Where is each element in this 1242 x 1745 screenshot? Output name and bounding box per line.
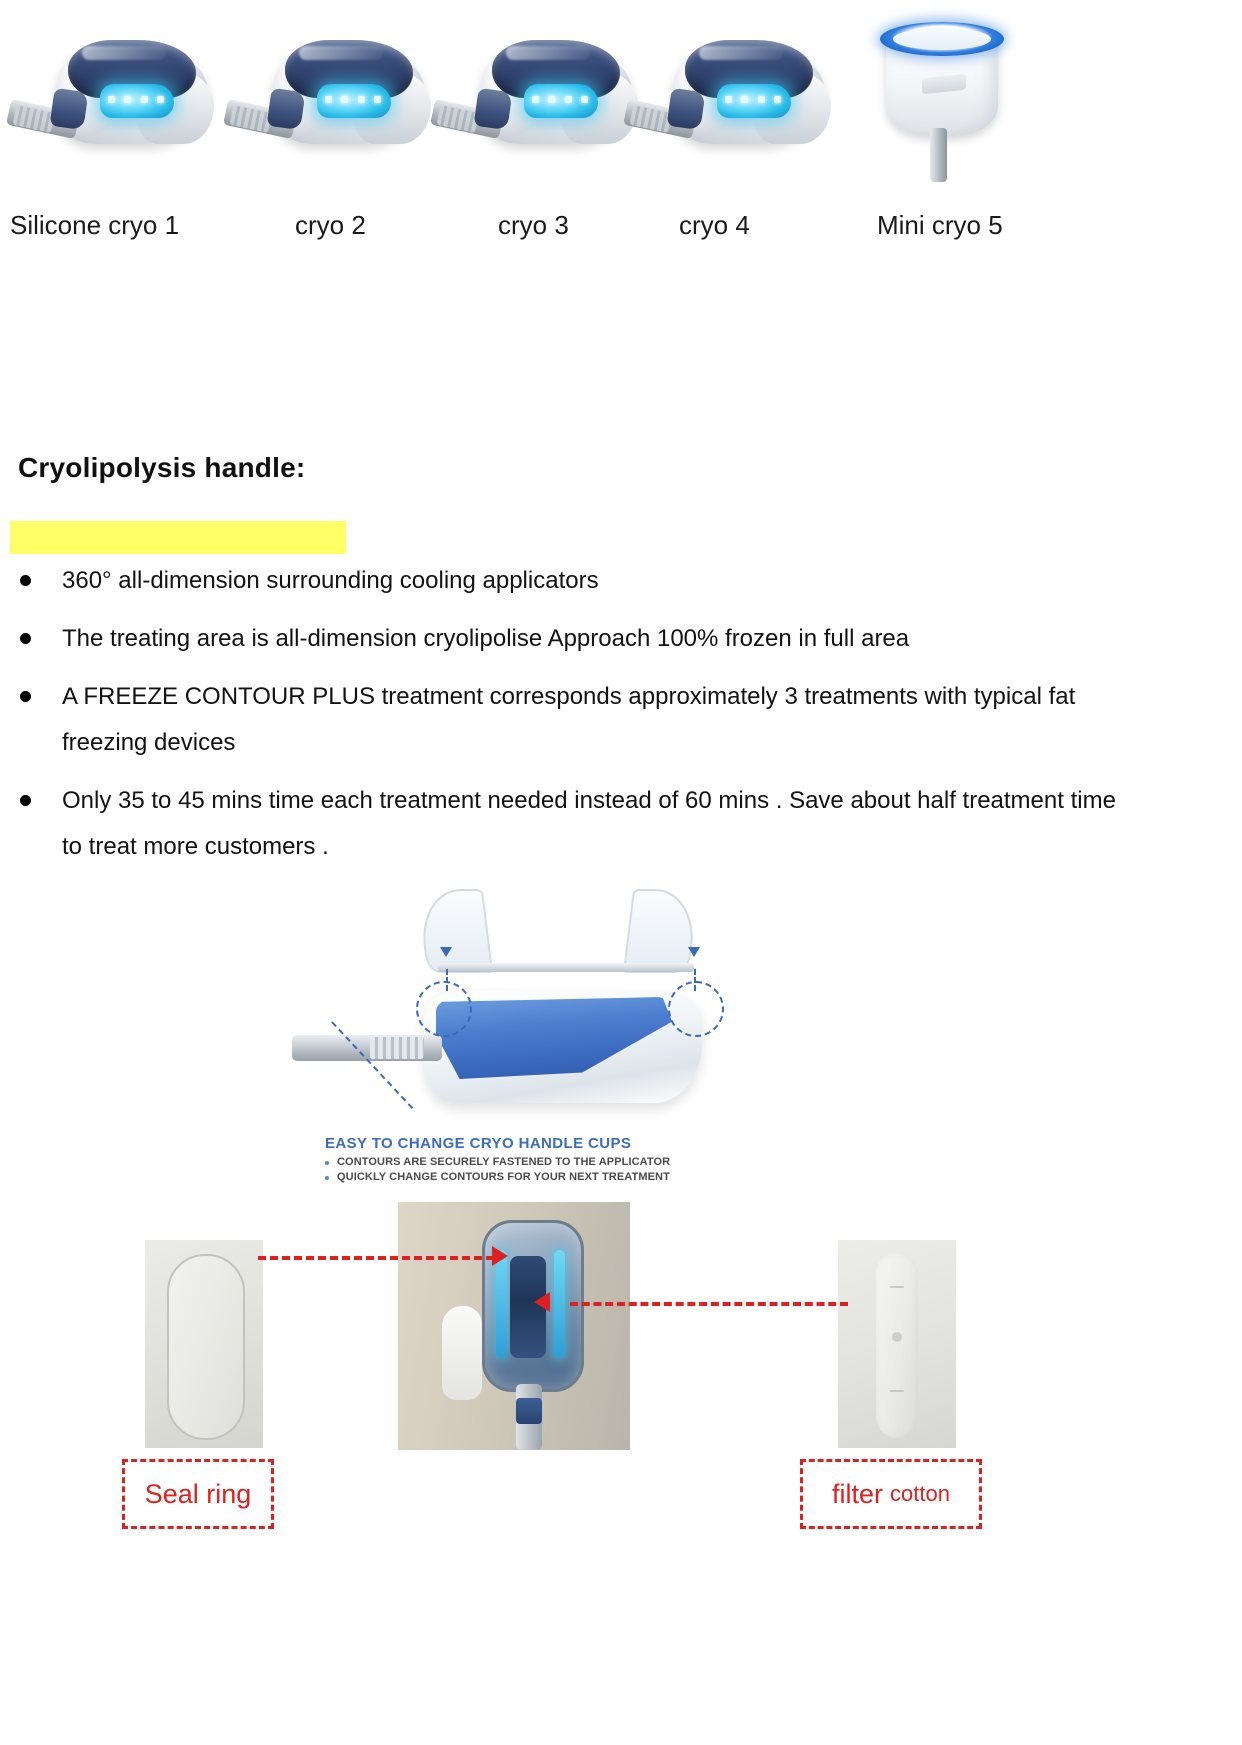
bullet-text: 360° all-dimension surrounding cooling a… [62,567,599,594]
applicator-image-1 [8,10,223,180]
handle-cap-gloss [299,46,383,60]
applicator-gallery [0,0,1242,190]
hose-tube-rings [370,1037,424,1059]
filter-mark [890,1286,904,1288]
filter-label-small: cotton [890,1481,950,1507]
seal-ring-label-box: Seal ring [122,1459,274,1529]
cup-caption-title: EASY TO CHANGE CRYO HANDLE CUPS [325,1135,745,1152]
yellow-highlight-bar [10,521,346,554]
filter-cotton-label-box: filter cotton [800,1459,982,1529]
handle-stem-collar [516,1398,542,1424]
bullet-text: A FREEZE CONTOUR PLUS treatment correspo… [62,683,1075,756]
applicator-label-5: Mini cryo 5 [877,208,1003,242]
section-heading: Cryolipolysis handle: [18,452,305,484]
seal-ring-label: Seal ring [145,1479,252,1510]
list-item: A FREEZE CONTOUR PLUS treatment correspo… [14,674,1134,766]
list-item: Only 35 to 45 mins time each treatment n… [14,778,1134,870]
callout-arrow-left [258,1256,494,1260]
handle-cap-gloss [82,46,166,60]
applicator-image-3 [432,10,647,180]
cup-caption-line: CONTOURS ARE SECURELY FASTENED TO THE AP… [325,1155,745,1170]
connector-neck [267,88,306,130]
filter-mark [890,1390,904,1392]
handle-glow-right [554,1250,565,1358]
filter-cotton-shape [876,1252,918,1438]
connector-neck [50,88,89,130]
down-arrow-icon-left [440,947,452,957]
bullet-text: The treating area is all-dimension cryol… [62,625,909,652]
cup-caption-list: CONTOURS ARE SECURELY FASTENED TO THE AP… [325,1155,745,1185]
applicator-label-2: cryo 2 [295,208,366,242]
cooling-led-dots [725,96,781,104]
connector-neck [667,88,706,130]
applicator-label-row: Silicone cryo 1 cryo 2 cryo 3 cryo 4 Min… [0,208,1242,248]
mini-cup-stem [930,128,947,182]
callout-circle-right [668,981,724,1037]
bullet-dot-icon [20,691,31,702]
cryo-handle-photo [398,1202,630,1450]
callout-arrow-head-right-icon [534,1292,550,1312]
seal-ring-photo [145,1240,263,1448]
callout-line-left [446,969,448,991]
bullet-dot-icon [20,795,31,806]
applicator-image-5 [860,10,1035,180]
filter-hole [892,1332,902,1342]
list-item: The treating area is all-dimension cryol… [14,616,1134,662]
connector-neck [474,88,513,130]
applicator-image-2 [225,10,440,180]
callout-circle-left [416,981,472,1037]
clear-cup-wall-left [417,889,493,973]
applicator-label-3: cryo 3 [498,208,569,242]
seal-ring-shape [167,1254,245,1440]
handle-cap-gloss [699,46,783,60]
cooling-led-dots [325,96,381,104]
callout-arrow-right [570,1302,848,1306]
bullet-text: Only 35 to 45 mins time each treatment n… [62,787,1116,860]
callout-arrow-head-left-icon [492,1246,508,1266]
applicator-image-4 [625,10,840,180]
down-arrow-icon-right [688,947,700,957]
applicator-label-1: Silicone cryo 1 [10,208,179,242]
handle-grip [442,1306,482,1400]
handle-glow-left [496,1250,507,1358]
clear-cup-wall-right [623,889,699,973]
callout-line-right [694,969,696,991]
filter-label-strong: filter [832,1479,883,1510]
filter-cotton-photo [838,1240,956,1448]
applicator-label-4: cryo 4 [679,208,750,242]
cup-caption-line: QUICKLY CHANGE CONTOURS FOR YOUR NEXT TR… [325,1170,745,1185]
list-item: 360° all-dimension surrounding cooling a… [14,558,1134,604]
handle-cap-gloss [506,46,590,60]
feature-bullet-list: 360° all-dimension surrounding cooling a… [14,558,1134,882]
cooling-led-dots [108,96,164,104]
bullet-dot-icon [20,575,31,586]
mini-cup-rim-inner [893,28,991,50]
cup-mounting-bar [438,963,694,972]
bullet-dot-icon [20,633,31,644]
cooling-led-dots [532,96,588,104]
cup-diagram-caption: EASY TO CHANGE CRYO HANDLE CUPS CONTOURS… [325,1135,745,1185]
